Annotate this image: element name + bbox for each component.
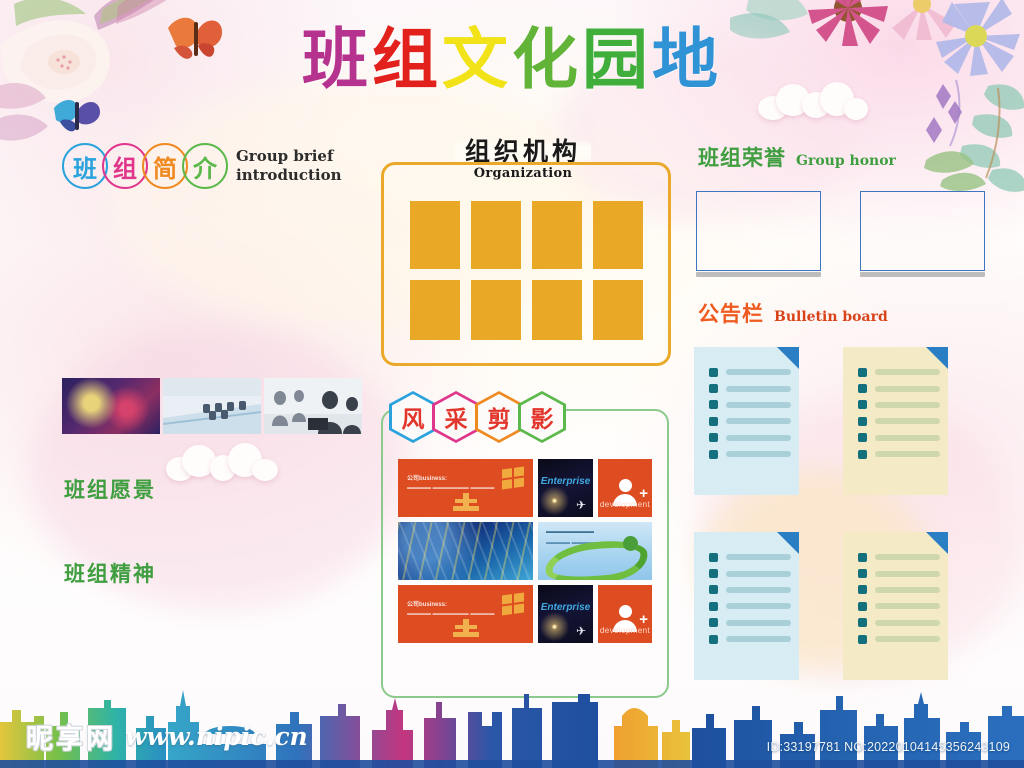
bulletin-note-0[interactable] [694, 347, 799, 495]
bulletin-title-en: Bulletin board [774, 309, 888, 325]
showcase-hex-2: 剪 [475, 391, 523, 443]
showcase-grid: 公司business: ▬▬▬▬ ▬▬▬▬▬▬ ▬▬▬▬ Enterprise … [398, 459, 652, 648]
photo-thumbnail-1[interactable] [163, 378, 261, 434]
group-brief-en-line1: Group brief [236, 147, 342, 166]
group-honor-heading: 班组荣誉 Group honor [698, 142, 896, 172]
development-caption-0: development [598, 500, 652, 509]
org-cell-1[interactable] [471, 201, 521, 269]
plane-icon-0: ✈ [576, 499, 586, 511]
showcase-hex-badges: 风 采 剪 影 [389, 391, 561, 443]
org-cell-3[interactable] [593, 201, 643, 269]
org-cell-0[interactable] [410, 201, 460, 269]
group-brief-section: 班 组 简 介 Group brief introduction [62, 143, 342, 189]
org-cell-6[interactable] [532, 280, 582, 340]
poster-canvas: 班组文化园地 班 组 简 介 Group brief introduction … [0, 0, 1024, 768]
enterprise-caption-1: Enterprise [538, 602, 593, 613]
bulletin-note-2[interactable] [694, 532, 799, 680]
showcase-hex-3: 影 [518, 391, 566, 443]
tower-graphic-1 [453, 619, 479, 637]
page-title: 班组文化园地 [0, 26, 1024, 92]
title-char-1: 组 [372, 26, 442, 92]
bulletin-title-cn: 公告栏 [698, 298, 764, 328]
showcase-tile-5[interactable]: 公司business: ▬▬▬▬ ▬▬▬▬▬▬ ▬▬▬▬ [398, 585, 533, 643]
brief-badge-char-2: 简 [153, 149, 177, 184]
group-brief-badges: 班 组 简 介 [62, 143, 222, 189]
honor-frame-1-wrap [860, 191, 985, 277]
butterfly-blue-icon [54, 100, 100, 131]
note-lines-0 [709, 368, 791, 466]
group-honor-title-cn: 班组荣誉 [698, 142, 786, 172]
showcase-tile-6[interactable]: Enterprise ✈ [538, 585, 593, 643]
showcase-row-2: 公司business: ▬▬▬▬ ▬▬▬▬▬▬ ▬▬▬▬ Enterprise … [398, 585, 652, 643]
title-char-3: 化 [512, 26, 582, 92]
title-char-0: 班 [302, 26, 372, 92]
showcase-tile-0[interactable]: 公司business: ▬▬▬▬ ▬▬▬▬▬▬ ▬▬▬▬ [398, 459, 533, 517]
label-team-spirit: 班组精神 [64, 558, 156, 588]
note-folded-corner-icon-1 [926, 347, 948, 369]
showcase-tile-4[interactable]: ▬▬▬▬▬▬▬▬ ▬▬▬▬ ▬▬▬▬▬ ▬▬▬ [538, 522, 652, 580]
showcase-hex-0: 风 [389, 391, 437, 443]
watermark-cn: 昵享网 [26, 717, 116, 756]
bulletin-note-3[interactable] [843, 532, 948, 680]
note-folded-corner-icon-2 [777, 532, 799, 554]
honor-shelf-0 [696, 272, 821, 277]
honor-frame-0-wrap [696, 191, 821, 277]
brief-badge-3: 介 [182, 143, 228, 189]
showcase-hex-char-1: 采 [445, 400, 468, 434]
showcase-hex-char-3: 影 [531, 400, 554, 434]
title-char-4: 园 [582, 26, 652, 92]
org-cell-7[interactable] [593, 280, 643, 340]
group-honor-title-en: Group honor [796, 153, 896, 169]
watermark-url: www.nipic.cn [125, 722, 308, 751]
showcase-row-0: 公司business: ▬▬▬▬ ▬▬▬▬▬▬ ▬▬▬▬ Enterprise … [398, 459, 652, 517]
showcase-tile-1[interactable]: Enterprise ✈ [538, 459, 593, 517]
group-brief-english: Group brief introduction [236, 147, 342, 185]
org-cell-5[interactable] [471, 280, 521, 340]
honor-frame-0[interactable] [696, 191, 821, 271]
organization-grid [410, 201, 642, 340]
left-photo-strip [62, 378, 362, 434]
development-caption-1: development [598, 626, 652, 635]
photo-thumbnail-0[interactable] [62, 378, 160, 434]
note-lines-2 [709, 553, 791, 651]
image-id-text: ID:33197781 NO:20220104145356243109 [767, 740, 1010, 754]
note-folded-corner-icon-0 [777, 347, 799, 369]
showcase-panel: 公司business: ▬▬▬▬ ▬▬▬▬▬▬ ▬▬▬▬ Enterprise … [381, 409, 669, 698]
note-lines-1 [858, 368, 940, 466]
showcase-hex-char-0: 风 [402, 400, 425, 434]
title-char-2: 文 [442, 26, 512, 92]
title-char-5: 地 [652, 26, 722, 92]
windows-logo-icon-0 [502, 466, 524, 489]
showcase-tile-2[interactable]: + development [598, 459, 652, 517]
brief-badge-char-0: 班 [73, 149, 97, 184]
cloud-decoration-left [166, 443, 278, 483]
label-team-vision: 班组愿景 [64, 474, 156, 504]
plane-icon-1: ✈ [576, 625, 586, 637]
showcase-hex-char-2: 剪 [488, 400, 511, 434]
brief-badge-char-1: 组 [113, 149, 137, 184]
org-cell-2[interactable] [532, 201, 582, 269]
note-folded-corner-icon-3 [926, 532, 948, 554]
windows-logo-icon-1 [502, 592, 524, 615]
site-watermark: 昵享网 www.nipic.cn [26, 717, 308, 756]
showcase-tile-3[interactable] [398, 522, 533, 580]
showcase-hex-1: 采 [432, 391, 480, 443]
brief-badge-char-3: 介 [193, 149, 217, 184]
photo-thumbnail-2[interactable] [264, 378, 362, 434]
enterprise-caption-0: Enterprise [538, 476, 593, 487]
honor-frame-1[interactable] [860, 191, 985, 271]
organization-panel [381, 162, 671, 366]
note-lines-3 [858, 553, 940, 651]
bulletin-board-heading: 公告栏 Bulletin board [698, 298, 888, 328]
showcase-row-1: ▬▬▬▬▬▬▬▬ ▬▬▬▬ ▬▬▬▬▬ ▬▬▬ [398, 522, 652, 580]
bulletin-note-1[interactable] [843, 347, 948, 495]
honor-shelf-1 [860, 272, 985, 277]
group-brief-en-line2: introduction [236, 166, 342, 185]
showcase-tile-7[interactable]: + development [598, 585, 652, 643]
tower-graphic-0 [453, 493, 479, 511]
org-cell-4[interactable] [410, 280, 460, 340]
